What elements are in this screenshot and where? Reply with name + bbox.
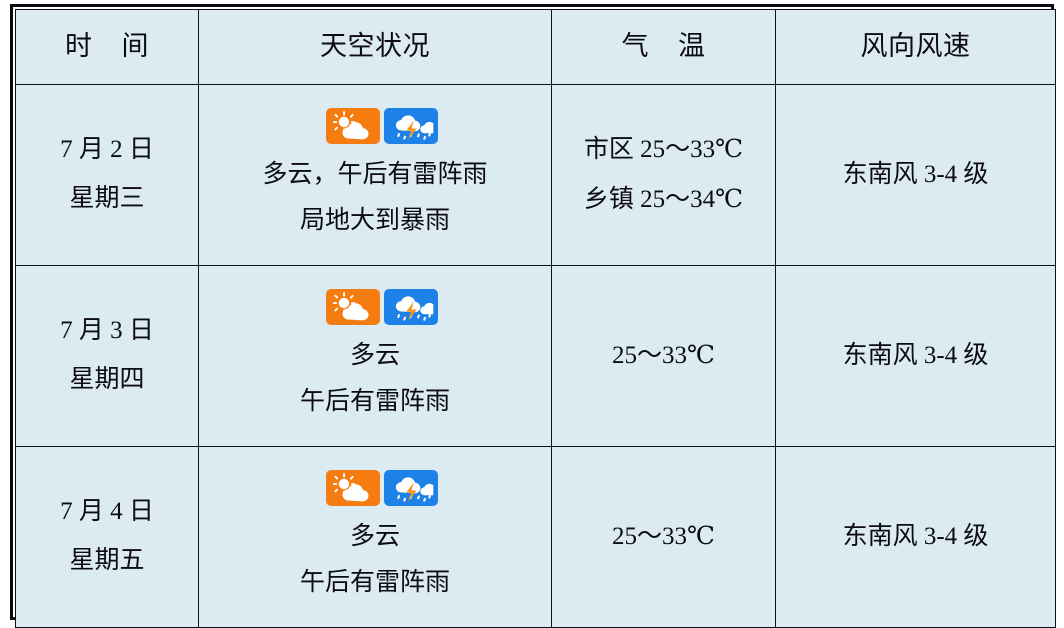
header-time-label: 时 间 (16, 32, 198, 62)
header-wind-label: 风向风速 (776, 32, 1055, 62)
table-row: 7 月 2 日 星期三 (16, 85, 1056, 266)
weather-icon-row (213, 470, 551, 506)
table-row: 7 月 3 日 星期四 (16, 266, 1056, 447)
cell-date: 7 月 2 日 星期三 (16, 85, 199, 266)
header-cell-sky: 天空状况 (199, 10, 552, 85)
sky-condition-line-1: 多云 (199, 333, 551, 379)
header-cell-time: 时 间 (16, 10, 199, 85)
sun-cloud-icon (326, 470, 380, 506)
sky-condition-line-2: 午后有雷阵雨 (199, 560, 551, 606)
thunderstorm-icon (384, 289, 438, 325)
date-line-weekday: 星期四 (16, 356, 198, 405)
cell-sky-condition: 多云，午后有雷阵雨 局地大到暴雨 (199, 85, 552, 266)
temperature-line-urban: 25～33℃ (552, 331, 775, 381)
cell-temperature: 25～33℃ (552, 266, 776, 447)
header-cell-temperature: 气 温 (552, 10, 776, 85)
table-row: 7 月 4 日 星期五 (16, 447, 1056, 628)
thunderstorm-icon (384, 470, 438, 506)
temperature-line-urban: 市区 25～33℃ (552, 125, 775, 175)
temperature-line-urban: 25～33℃ (552, 512, 775, 562)
header-cell-wind: 风向风速 (776, 10, 1056, 85)
cell-temperature: 市区 25～33℃ 乡镇 25～34℃ (552, 85, 776, 266)
cell-temperature: 25～33℃ (552, 447, 776, 628)
sun-cloud-icon (326, 289, 380, 325)
sun-cloud-icon (326, 108, 380, 144)
weather-icon-row (213, 289, 551, 325)
cell-date: 7 月 4 日 星期五 (16, 447, 199, 628)
header-temperature-label: 气 温 (552, 32, 775, 62)
date-line-primary: 7 月 2 日 (16, 126, 198, 175)
sky-condition-line-2: 局地大到暴雨 (199, 198, 551, 244)
sky-condition-line-2: 午后有雷阵雨 (199, 379, 551, 425)
wind-value: 东南风 3-4 级 (776, 522, 1055, 552)
weather-icon-row (213, 108, 551, 144)
cell-sky-condition: 多云 午后有雷阵雨 (199, 266, 552, 447)
sky-condition-line-1: 多云，午后有雷阵雨 (199, 152, 551, 198)
thunderstorm-icon (384, 108, 438, 144)
date-line-weekday: 星期五 (16, 537, 198, 586)
cell-sky-condition: 多云 午后有雷阵雨 (199, 447, 552, 628)
wind-value: 东南风 3-4 级 (776, 160, 1055, 190)
sky-condition-content: 多云 午后有雷阵雨 (199, 468, 551, 607)
date-line-weekday: 星期三 (16, 175, 198, 224)
temperature-line-rural: 乡镇 25～34℃ (552, 175, 775, 225)
cell-date: 7 月 3 日 星期四 (16, 266, 199, 447)
cell-wind: 东南风 3-4 级 (776, 85, 1056, 266)
sky-condition-content: 多云，午后有雷阵雨 局地大到暴雨 (199, 106, 551, 245)
forecast-table-container: 时 间 天空状况 气 温 风向风速 7 月 2 日 星期三 (10, 4, 1054, 620)
date-line-primary: 7 月 4 日 (16, 488, 198, 537)
date-line-primary: 7 月 3 日 (16, 307, 198, 356)
table-header-row: 时 间 天空状况 气 温 风向风速 (16, 10, 1056, 85)
header-sky-label: 天空状况 (199, 32, 551, 62)
cell-wind: 东南风 3-4 级 (776, 447, 1056, 628)
cell-wind: 东南风 3-4 级 (776, 266, 1056, 447)
sky-condition-content: 多云 午后有雷阵雨 (199, 287, 551, 426)
sky-condition-line-1: 多云 (199, 514, 551, 560)
wind-value: 东南风 3-4 级 (776, 341, 1055, 371)
weather-forecast-table: 时 间 天空状况 气 温 风向风速 7 月 2 日 星期三 (15, 9, 1056, 628)
